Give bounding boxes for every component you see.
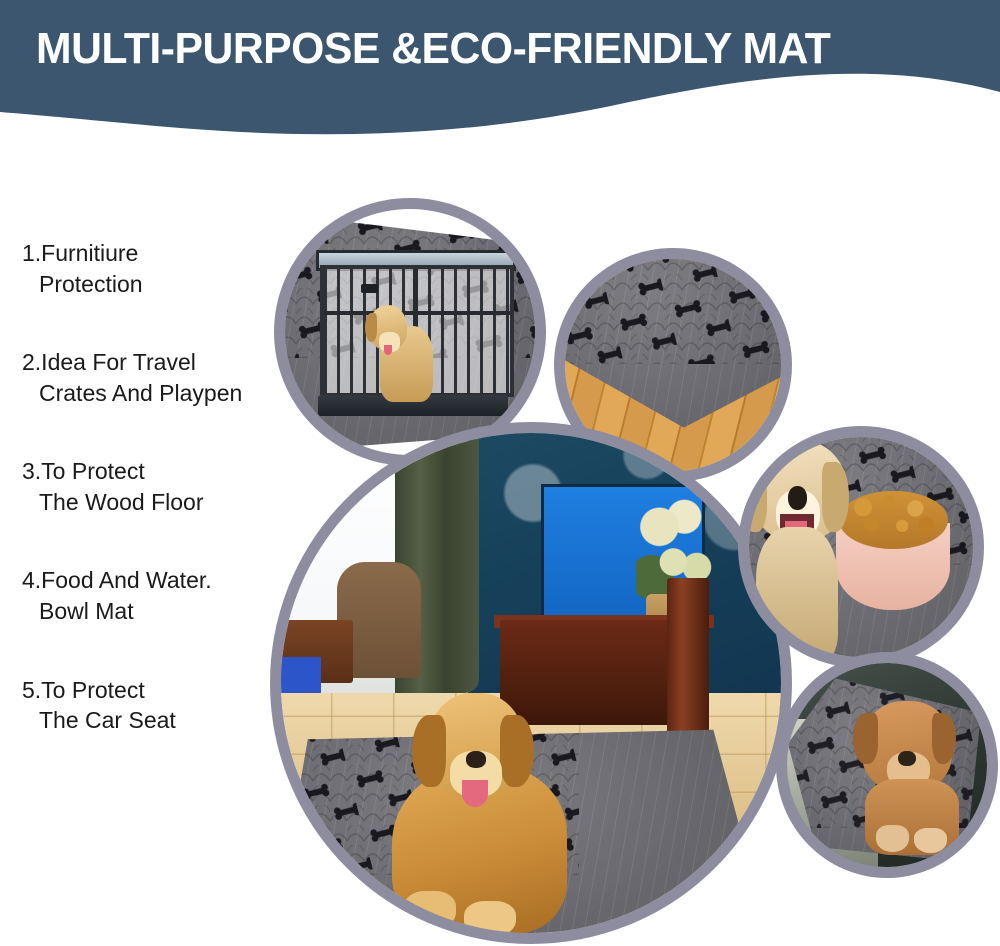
dog-ear-left <box>412 715 446 787</box>
blue-floor-object <box>274 657 321 694</box>
dog-tongue <box>462 780 488 807</box>
header-banner: MULTI-PURPOSE &ECO-FRIENDLY MAT <box>0 0 1000 140</box>
infographic-page: MULTI-PURPOSE &ECO-FRIENDLY MAT 1.Furnit… <box>0 0 1000 946</box>
feature-line-1: 5.To Protect <box>22 675 292 706</box>
page-title: MULTI-PURPOSE &ECO-FRIENDLY MAT <box>36 24 948 75</box>
bubble-dog-with-food-bowl <box>738 426 984 668</box>
dog-ear-left <box>365 313 378 342</box>
scene-living-room <box>270 422 792 944</box>
carved-column <box>667 578 709 746</box>
dog-front-paw-right <box>464 901 516 937</box>
feature-line-2: The Car Seat <box>22 705 292 736</box>
dog-ear-right <box>822 462 849 532</box>
photo-collage <box>258 150 1000 946</box>
feature-line-2: Protection <box>22 269 292 300</box>
puppy-paw-left <box>876 825 910 852</box>
puppy-paw-right <box>914 828 948 854</box>
feature-list: 1.Furnitiure Protection 2.Idea For Trave… <box>22 238 292 784</box>
feature-line-1: 1.Furnitiure <box>22 238 292 269</box>
feature-line-1: 4.Food And Water. <box>22 565 292 596</box>
dog-golden-retriever <box>742 440 856 660</box>
dog-body <box>756 527 838 663</box>
dog-golden-retriever <box>384 693 583 934</box>
feature-item-travel-crates: 2.Idea For Travel Crates And Playpen <box>22 347 292 408</box>
feature-line-2: Crates And Playpen <box>22 378 292 409</box>
crate-latch-icon <box>361 284 378 293</box>
feature-item-wood-floor: 3.To Protect The Wood Floor <box>22 456 292 517</box>
dog-nose <box>788 486 807 510</box>
puppy-ear-left <box>853 713 878 764</box>
dog-puppy-dogue-de-bordeaux <box>856 701 968 851</box>
puppy-nose <box>898 751 916 766</box>
scene-food-and-water-bowl <box>738 426 984 668</box>
dog-front-paw-left <box>404 891 456 930</box>
feature-line-1: 2.Idea For Travel <box>22 347 292 378</box>
feature-line-1: 3.To Protect <box>22 456 292 487</box>
feature-item-car-seat: 5.To Protect The Car Seat <box>22 675 292 736</box>
dog-ear-right <box>500 715 534 787</box>
feature-line-2: Bowl Mat <box>22 596 292 627</box>
feature-line-2: The Wood Floor <box>22 487 292 518</box>
bubble-golden-retriever-living-room <box>270 422 792 944</box>
bubble-puppy-on-car-seat <box>776 652 998 878</box>
feature-item-food-water-bowl: 4.Food And Water. Bowl Mat <box>22 565 292 626</box>
puppy-ear-right <box>932 713 957 764</box>
bone-pattern <box>554 248 792 364</box>
scene-car-seat-protection <box>776 652 998 878</box>
dog-nose <box>466 751 486 768</box>
dog-tongue <box>384 345 393 355</box>
dog-golden-retriever <box>369 305 440 402</box>
feature-item-furniture-protection: 1.Furnitiure Protection <box>22 238 292 299</box>
